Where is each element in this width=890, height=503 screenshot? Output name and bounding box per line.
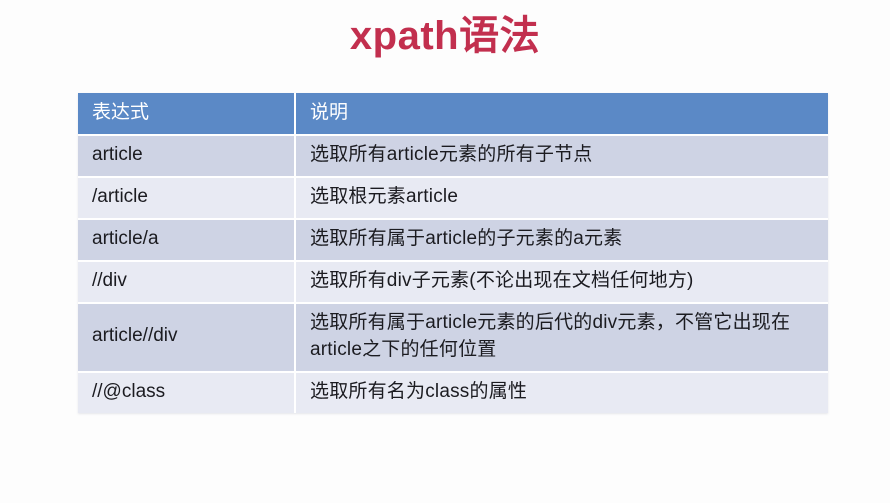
table-row: //div 选取所有div子元素(不论出现在文档任何地方) — [78, 261, 828, 303]
expression-text: article/a — [92, 226, 280, 253]
cell-expression: article/a — [78, 219, 295, 261]
description-text: 选取所有名为class的属性 — [310, 379, 814, 406]
table-row: article/a 选取所有属于article的子元素的a元素 — [78, 219, 828, 261]
cell-description: 选取所有属于article元素的后代的div元素，不管它出现在article之下… — [295, 303, 828, 372]
xpath-syntax-table: 表达式 说明 article 选取所有article元素的所有子节点 /arti… — [78, 93, 828, 413]
expression-text: /article — [92, 184, 280, 211]
description-text: 选取根元素article — [310, 184, 814, 211]
table-row: article 选取所有article元素的所有子节点 — [78, 135, 828, 177]
description-text: 选取所有article元素的所有子节点 — [310, 142, 814, 169]
page-title: xpath语法 — [0, 14, 890, 58]
cell-description: 选取所有属于article的子元素的a元素 — [295, 219, 828, 261]
column-header-description: 说明 — [295, 93, 828, 135]
table-body: article 选取所有article元素的所有子节点 /article 选取根… — [78, 135, 828, 413]
expression-text: //div — [92, 268, 280, 295]
table-header-row: 表达式 说明 — [78, 93, 828, 135]
cell-description: 选取所有article元素的所有子节点 — [295, 135, 828, 177]
table-row: //@class 选取所有名为class的属性 — [78, 372, 828, 413]
table-row: /article 选取根元素article — [78, 177, 828, 219]
cell-expression: article — [78, 135, 295, 177]
cell-expression: article//div — [78, 303, 295, 372]
cell-description: 选取根元素article — [295, 177, 828, 219]
table-header: 表达式 说明 — [78, 93, 828, 135]
slide-canvas: xpath语法 表达式 说明 article 选取所有article元素的所有子… — [0, 0, 890, 503]
column-header-expression: 表达式 — [78, 93, 295, 135]
expression-text: article — [92, 142, 280, 169]
description-text: 选取所有div子元素(不论出现在文档任何地方) — [310, 268, 814, 295]
cell-description: 选取所有名为class的属性 — [295, 372, 828, 413]
cell-expression: //div — [78, 261, 295, 303]
description-text: 选取所有属于article的子元素的a元素 — [310, 226, 814, 253]
expression-text: //@class — [92, 379, 280, 406]
cell-expression: //@class — [78, 372, 295, 413]
table-row: article//div 选取所有属于article元素的后代的div元素，不管… — [78, 303, 828, 372]
expression-text: article//div — [92, 323, 280, 350]
description-text: 选取所有属于article元素的后代的div元素，不管它出现在article之下… — [310, 310, 814, 364]
cell-expression: /article — [78, 177, 295, 219]
cell-description: 选取所有div子元素(不论出现在文档任何地方) — [295, 261, 828, 303]
